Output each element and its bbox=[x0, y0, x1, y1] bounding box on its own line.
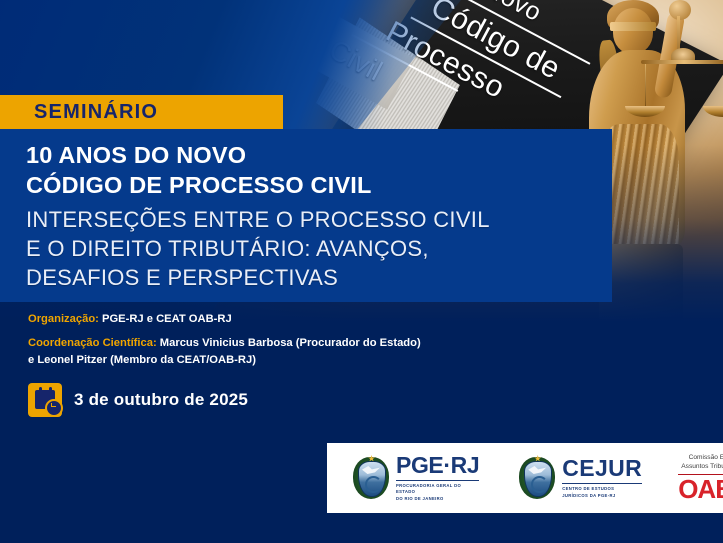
oab-rj-wordmark: OABRJ bbox=[678, 476, 723, 502]
logo-cejur-rule bbox=[562, 483, 642, 484]
credits-block: Organização: PGE-RJ e CEAT OAB-RJ Coorde… bbox=[28, 311, 628, 369]
title-line-1: 10 ANOS DO NOVO bbox=[26, 140, 601, 170]
logo-pge-rj-subtitle-1: PROCURADORIA GERAL DO ESTADO bbox=[396, 483, 479, 495]
rio-de-janeiro-coat-of-arms-icon-2 bbox=[519, 457, 555, 499]
logo-pge-rj-name: PGE·RJ bbox=[396, 454, 479, 477]
rio-de-janeiro-coat-of-arms-icon bbox=[353, 457, 389, 499]
logo-cejur-subtitle-2: JURÍDICOS DA PGE-RJ bbox=[562, 493, 642, 499]
coat-of-arms-swirl bbox=[365, 476, 382, 493]
event-date-text: 3 de outubro de 2025 bbox=[74, 390, 248, 410]
coordination-line: Coordenação Científica: Marcus Vinicius … bbox=[28, 335, 628, 369]
sponsor-logo-bar: PGE·RJ PROCURADORIA GERAL DO ESTADO DO R… bbox=[327, 443, 723, 513]
logo-pge-rj-subtitle-2: DO RIO DE JANEIRO bbox=[396, 496, 479, 502]
coordination-value-2: e Leonel Pitzer (Membro da CEAT/OAB-RJ) bbox=[28, 354, 256, 366]
oab-wordmark-oab: OAB bbox=[678, 474, 723, 504]
clock-hand-minute bbox=[52, 406, 56, 408]
clock-face bbox=[45, 399, 63, 417]
logo-oab-rj: Comissão Especial de Assuntos Tributário… bbox=[678, 454, 723, 502]
oab-commission-line-1: Comissão Especial de bbox=[678, 454, 723, 463]
coordination-value: Marcus Vinicius Barbosa (Procurador do E… bbox=[160, 337, 421, 349]
seminar-poster: Novo Código de Processo Civil bbox=[0, 0, 723, 543]
seminar-badge: SEMINÁRIO bbox=[0, 95, 283, 129]
organization-line: Organização: PGE-RJ e CEAT OAB-RJ bbox=[28, 311, 628, 328]
logo-oab-rj-text: Comissão Especial de Assuntos Tributário… bbox=[678, 454, 723, 502]
logo-cejur-name: CEJUR bbox=[562, 457, 642, 480]
organization-value: PGE-RJ e CEAT OAB-RJ bbox=[102, 313, 232, 325]
subtitle-line-2: E O DIREITO TRIBUTÁRIO: AVANÇOS, bbox=[26, 234, 601, 263]
subtitle-line-3: DESAFIOS E PERSPECTIVAS bbox=[26, 263, 601, 292]
bottom-strip bbox=[0, 513, 723, 543]
event-date-row: 3 de outubro de 2025 bbox=[28, 383, 248, 417]
logo-pge-rj: PGE·RJ PROCURADORIA GERAL DO ESTADO DO R… bbox=[353, 454, 479, 501]
subtitle-line-1: INTERSEÇÕES ENTRE O PROCESSO CIVIL bbox=[26, 205, 601, 234]
oab-commission-line-2: Assuntos Tributários (Ceat) bbox=[678, 463, 723, 472]
logo-pge-rj-rule bbox=[396, 480, 479, 481]
logo-cejur-text: CEJUR CENTRO DE ESTUDOS JURÍDICOS DA PGE… bbox=[562, 457, 642, 498]
calendar-clock-icon bbox=[28, 383, 62, 417]
coordination-label: Coordenação Científica: bbox=[28, 337, 157, 349]
logo-cejur: CEJUR CENTRO DE ESTUDOS JURÍDICOS DA PGE… bbox=[519, 457, 642, 499]
title-line-2: CÓDIGO DE PROCESSO CIVIL bbox=[26, 170, 601, 200]
organization-label: Organização: bbox=[28, 313, 99, 325]
title-block: 10 ANOS DO NOVO CÓDIGO DE PROCESSO CIVIL… bbox=[26, 140, 601, 292]
logo-pge-rj-text: PGE·RJ PROCURADORIA GERAL DO ESTADO DO R… bbox=[396, 454, 479, 501]
seminar-badge-label: SEMINÁRIO bbox=[34, 101, 158, 124]
